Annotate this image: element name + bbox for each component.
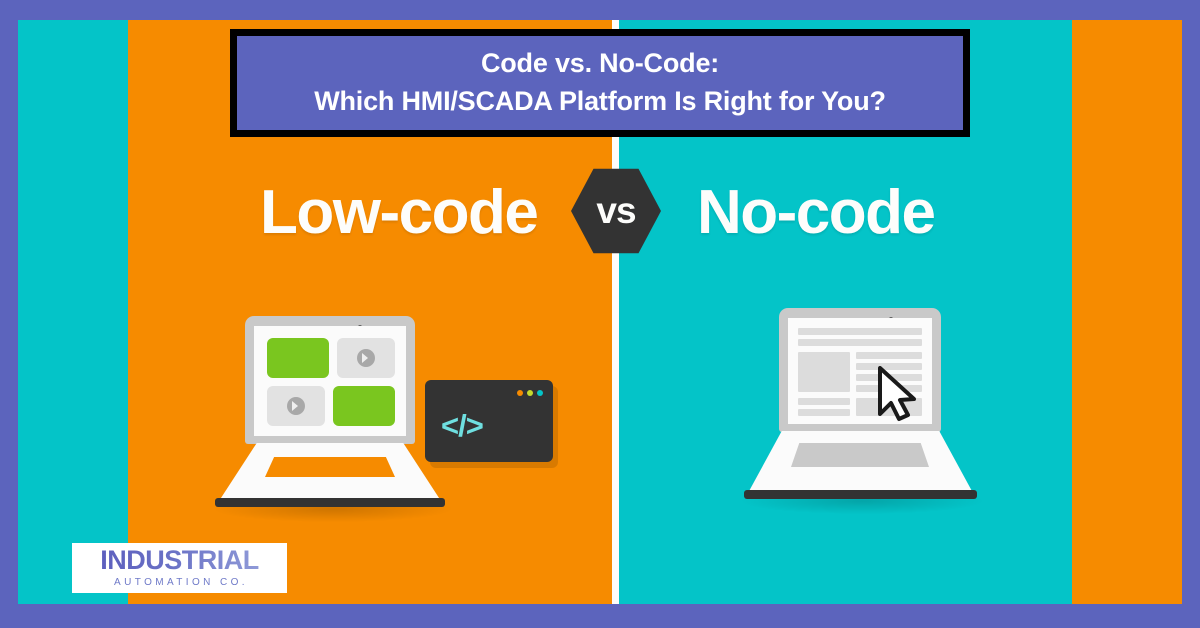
screen-tile-green-2 xyxy=(333,386,395,426)
dot-orange-icon xyxy=(517,390,523,396)
mouse-cursor-icon xyxy=(876,366,920,422)
left-laptop-screen xyxy=(254,326,406,436)
vs-label: vs xyxy=(596,192,635,231)
play-knob-icon xyxy=(357,349,375,367)
screen-tile-green-1 xyxy=(267,338,329,378)
low-code-illustration: </> xyxy=(215,308,560,528)
right-laptop-base xyxy=(748,431,973,493)
right-laptop-keyboard xyxy=(791,443,929,467)
title-line-1: Code vs. No-Code: xyxy=(481,45,719,83)
left-laptop-foot xyxy=(215,498,445,507)
left-laptop-base xyxy=(219,443,441,501)
brand-logo: INDUSTRIAL AUTOMATION CO. xyxy=(72,543,287,593)
code-window: </> xyxy=(425,380,553,462)
wireframe-bar xyxy=(856,352,922,359)
wireframe-bar xyxy=(798,328,922,335)
headline-no-code: No-code xyxy=(697,168,935,258)
right-laptop-lid xyxy=(779,308,941,432)
right-laptop-foot xyxy=(744,490,977,499)
dot-cyan-icon xyxy=(537,390,543,396)
wireframe-bar xyxy=(798,409,850,416)
right-laptop-screen xyxy=(788,318,932,424)
wireframe-block xyxy=(798,352,850,392)
code-brackets-icon: </> xyxy=(441,410,483,441)
screen-tile-gray-2 xyxy=(267,386,325,426)
no-code-illustration xyxy=(742,300,992,525)
logo-sub-text: AUTOMATION CO. xyxy=(111,575,248,590)
wireframe-bar xyxy=(798,339,922,346)
code-window-dots xyxy=(517,390,543,396)
left-laptop-keyboard xyxy=(265,457,395,477)
panel-teal-left xyxy=(18,20,128,604)
left-laptop-lid xyxy=(245,316,415,444)
panel-orange-right xyxy=(1072,20,1182,604)
title-box: Code vs. No-Code: Which HMI/SCADA Platfo… xyxy=(230,29,970,137)
banner-canvas: Code vs. No-Code: Which HMI/SCADA Platfo… xyxy=(0,0,1200,628)
dot-green-icon xyxy=(527,390,533,396)
screen-tile-gray-1 xyxy=(337,338,395,378)
logo-main-text: INDUSTRIAL xyxy=(100,547,259,575)
headline-low-code: Low-code xyxy=(260,168,537,258)
play-knob-icon xyxy=(287,397,305,415)
wireframe-bar xyxy=(798,398,850,405)
title-line-2: Which HMI/SCADA Platform Is Right for Yo… xyxy=(314,83,886,121)
